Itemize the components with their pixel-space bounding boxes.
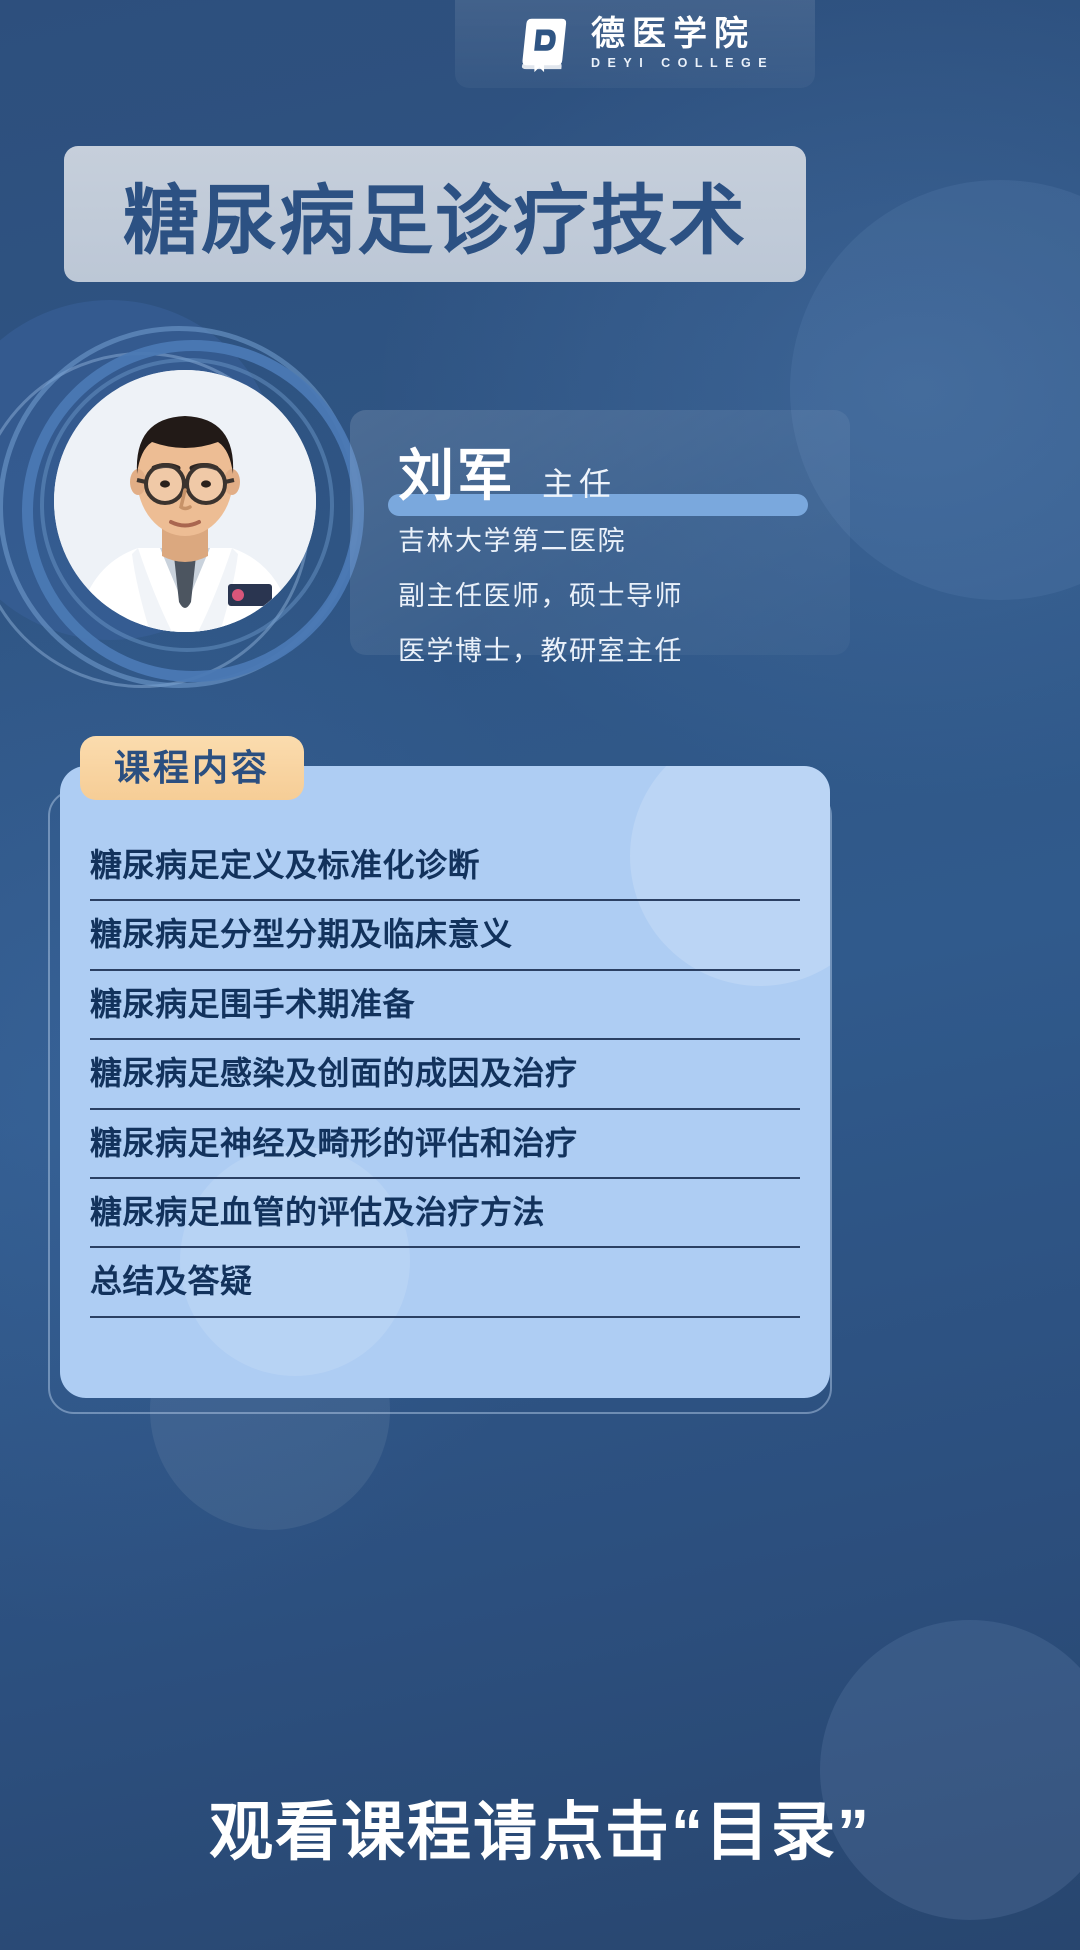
course-list: 糖尿病足定义及标准化诊断 糖尿病足分型分期及临床意义 糖尿病足围手术期准备 糖尿… (60, 766, 830, 1318)
list-item[interactable]: 糖尿病足分型分期及临床意义 (90, 901, 800, 970)
speaker-card: 刘军 主任 吉林大学第二医院 副主任医师，硕士导师 医学博士，教研室主任 (350, 410, 850, 655)
page-title: 糖尿病足诊疗技术 (123, 159, 747, 269)
decorative-blob (820, 1620, 1080, 1920)
cta-text: 观看课程请点击“目录” (0, 1800, 1080, 1864)
list-item[interactable]: 糖尿病足定义及标准化诊断 (90, 832, 800, 901)
list-item[interactable]: 糖尿病足感染及创面的成因及治疗 (90, 1040, 800, 1109)
credential-line: 医学博士，教研室主任 (398, 638, 683, 665)
brand-name-en: DEYI COLLEGE (591, 57, 774, 70)
course-section: 糖尿病足定义及标准化诊断 糖尿病足分型分期及临床意义 糖尿病足围手术期准备 糖尿… (48, 758, 832, 1414)
brand-logo[interactable]: 德医学院 DEYI COLLEGE (515, 12, 774, 74)
book-d-logo-icon (515, 12, 577, 74)
speaker-name: 刘军 (398, 448, 516, 504)
poster-root: 德医学院 DEYI COLLEGE 糖尿病足诊疗技术 (0, 0, 1080, 1950)
portrait-zone (14, 330, 394, 670)
list-item[interactable]: 糖尿病足血管的评估及治疗方法 (90, 1179, 800, 1248)
brand-name-cn: 德医学院 (591, 17, 774, 53)
credential-line: 副主任医师，硕士导师 (398, 583, 683, 610)
speaker-name-row: 刘军 主任 (398, 448, 616, 504)
speaker-credentials: 吉林大学第二医院 副主任医师，硕士导师 医学博士，教研室主任 (398, 528, 683, 693)
title-plate: 糖尿病足诊疗技术 (64, 146, 806, 282)
list-item[interactable]: 糖尿病足围手术期准备 (90, 971, 800, 1040)
credential-line: 吉林大学第二医院 (398, 528, 683, 555)
list-item[interactable]: 总结及答疑 (90, 1248, 800, 1317)
list-item[interactable]: 糖尿病足神经及畸形的评估和治疗 (90, 1110, 800, 1179)
speaker-role: 主任 (542, 468, 616, 500)
doctor-portrait-avatar (54, 370, 316, 632)
course-content-badge: 课程内容 (80, 736, 304, 800)
